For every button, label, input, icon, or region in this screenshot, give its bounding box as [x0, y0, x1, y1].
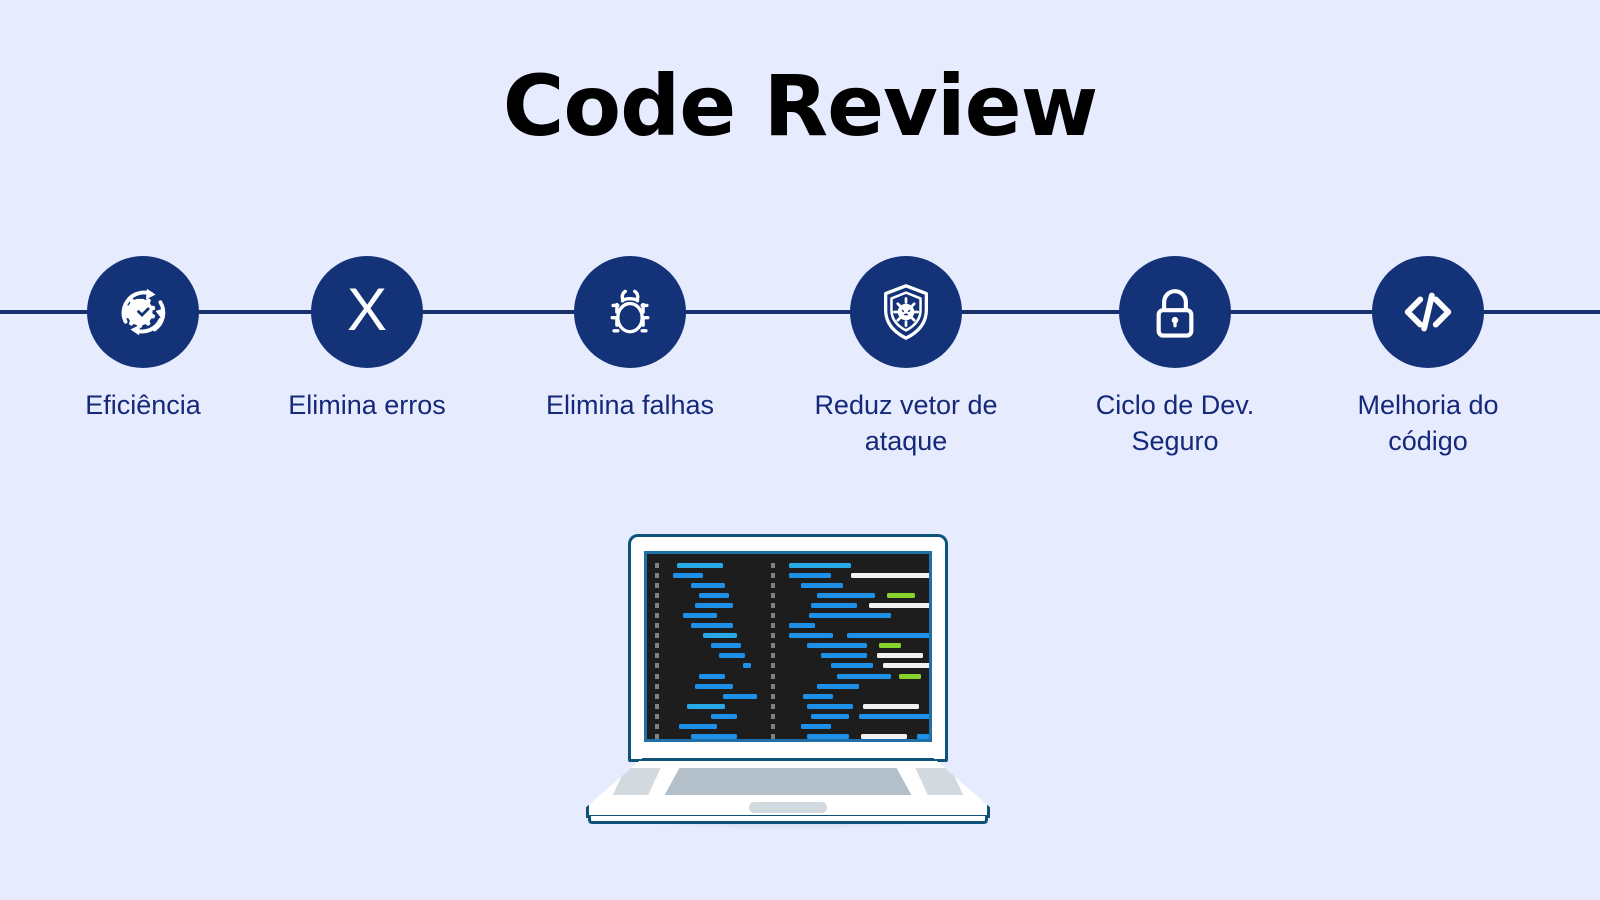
bug-icon [600, 282, 660, 342]
code-line [771, 590, 929, 600]
code-token [879, 643, 901, 648]
code-token [917, 734, 932, 739]
code-token [789, 623, 815, 628]
code-token [807, 643, 867, 648]
code-token [789, 573, 831, 578]
gutter-mark [655, 674, 659, 679]
gutter-mark [771, 684, 775, 689]
code-token [863, 704, 919, 709]
code-line [655, 590, 765, 600]
timeline: Eficiência X Elimina erros [0, 0, 1600, 500]
code-token [821, 653, 867, 658]
laptop-foot [588, 816, 988, 824]
gutter-mark [655, 704, 659, 709]
code-token [687, 704, 725, 709]
gear-check-cycle-icon [112, 281, 174, 343]
laptop-bezel [644, 551, 932, 742]
code-line [655, 732, 765, 742]
code-line [655, 651, 765, 661]
node-label: Ciclo de Dev. Seguro [1080, 388, 1270, 459]
timeline-node-melhoria-do-codigo[interactable]: Melhoria do código [1333, 256, 1523, 459]
letter-x-icon: X [347, 280, 387, 340]
gutter-mark [655, 563, 659, 568]
gutter-mark [771, 724, 775, 729]
code-line [771, 580, 929, 590]
gutter-mark [771, 613, 775, 618]
code-line [771, 701, 929, 711]
gutter-mark [655, 734, 659, 739]
code-token [789, 563, 851, 568]
gutter-mark [771, 734, 775, 739]
code-token [691, 734, 737, 739]
timeline-node-eficiencia[interactable]: Eficiência [48, 256, 238, 424]
laptop-lid [628, 534, 948, 762]
code-token [801, 583, 843, 588]
code-token [851, 573, 932, 578]
code-token [861, 734, 907, 739]
node-icon-circle[interactable] [1119, 256, 1231, 368]
code-line [655, 600, 765, 610]
code-line [771, 641, 929, 651]
code-line [771, 631, 929, 641]
code-line [655, 560, 765, 570]
gutter-mark [655, 694, 659, 699]
code-token [691, 623, 733, 628]
code-token [929, 704, 932, 709]
gutter-mark [655, 593, 659, 598]
code-line [655, 681, 765, 691]
code-line [771, 671, 929, 681]
node-icon-circle[interactable]: X [311, 256, 423, 368]
code-token [811, 603, 857, 608]
code-token [679, 724, 717, 729]
code-token [801, 724, 831, 729]
code-token [811, 714, 849, 719]
code-line [655, 661, 765, 671]
gutter-mark [655, 613, 659, 618]
gutter-mark [771, 623, 775, 628]
code-token [807, 704, 853, 709]
gutter-mark [771, 643, 775, 648]
code-editor-right-pane [765, 554, 929, 739]
code-line [771, 681, 929, 691]
node-label: Elimina erros [272, 388, 462, 424]
code-token [695, 684, 733, 689]
gutter-mark [655, 724, 659, 729]
code-token [847, 633, 932, 638]
timeline-node-reduz-vetor-de-ataque[interactable]: Reduz vetor de ataque [811, 256, 1001, 459]
code-token [887, 593, 915, 598]
code-token [869, 603, 932, 608]
gutter-mark [771, 653, 775, 658]
gutter-mark [655, 573, 659, 578]
gutter-mark [655, 643, 659, 648]
code-token [837, 674, 891, 679]
code-token [877, 653, 923, 658]
code-line [771, 722, 929, 732]
code-line [771, 610, 929, 620]
padlock-icon [1146, 283, 1204, 341]
code-line [771, 600, 929, 610]
shield-virus-icon [875, 281, 937, 343]
timeline-node-elimina-falhas[interactable]: Elimina falhas [535, 256, 725, 424]
code-line [771, 661, 929, 671]
keyboard-side-left [613, 768, 661, 795]
code-token [899, 674, 921, 679]
code-line [655, 691, 765, 701]
gutter-mark [771, 593, 775, 598]
gutter-mark [771, 714, 775, 719]
node-icon-circle[interactable] [574, 256, 686, 368]
node-icon-circle[interactable] [1372, 256, 1484, 368]
code-line [655, 671, 765, 681]
code-line [655, 570, 765, 580]
code-line [771, 691, 929, 701]
gutter-mark [655, 633, 659, 638]
code-token [677, 563, 723, 568]
laptop-base [586, 758, 990, 818]
code-token [817, 684, 859, 689]
code-token [691, 583, 725, 588]
code-line [655, 722, 765, 732]
gutter-mark [655, 684, 659, 689]
gutter-mark [771, 674, 775, 679]
code-line [771, 732, 929, 742]
node-icon-circle[interactable] [850, 256, 962, 368]
code-token [703, 633, 737, 638]
keyboard-side-right [915, 768, 963, 795]
node-label: Elimina falhas [535, 388, 725, 424]
code-line [771, 560, 929, 570]
code-token [803, 694, 833, 699]
code-line [655, 641, 765, 651]
code-line [655, 711, 765, 721]
code-token [817, 593, 875, 598]
gutter-mark [655, 603, 659, 608]
gutter-mark [655, 663, 659, 668]
code-line [655, 631, 765, 641]
code-line [771, 651, 929, 661]
code-token [695, 603, 733, 608]
keyboard-deck [665, 768, 912, 795]
gutter-mark [771, 663, 775, 668]
laptop-screen [647, 554, 929, 739]
node-label: Eficiência [48, 388, 238, 424]
code-token [807, 734, 849, 739]
code-line [771, 621, 929, 631]
code-editor-left-pane [647, 554, 765, 739]
node-label: Melhoria do código [1333, 388, 1523, 459]
code-token [789, 633, 833, 638]
gutter-mark [771, 573, 775, 578]
code-line [771, 711, 929, 721]
laptop-base-body [586, 758, 990, 818]
timeline-node-elimina-erros[interactable]: X Elimina erros [272, 256, 462, 424]
gutter-mark [655, 714, 659, 719]
code-token [673, 573, 703, 578]
code-token [859, 714, 932, 719]
trackpad [749, 802, 827, 813]
code-token [711, 714, 737, 719]
code-token [699, 674, 725, 679]
code-line [771, 570, 929, 580]
laptop-illustration [560, 518, 1016, 848]
gutter-mark [771, 563, 775, 568]
code-line [655, 610, 765, 620]
gutter-mark [655, 623, 659, 628]
code-line [655, 621, 765, 631]
timeline-node-ciclo-de-dev-seguro[interactable]: Ciclo de Dev. Seguro [1080, 256, 1270, 459]
gutter-mark [771, 704, 775, 709]
node-label: Reduz vetor de ataque [811, 388, 1001, 459]
code-token [711, 643, 741, 648]
code-token [699, 593, 729, 598]
code-token [883, 663, 932, 668]
code-token [683, 613, 717, 618]
code-token [931, 674, 932, 679]
code-brackets-icon [1397, 281, 1459, 343]
code-token [831, 663, 873, 668]
gutter-mark [655, 583, 659, 588]
gutter-mark [771, 633, 775, 638]
code-token [743, 663, 751, 668]
code-token [723, 694, 757, 699]
code-line [655, 701, 765, 711]
code-line [655, 580, 765, 590]
gutter-mark [771, 603, 775, 608]
node-icon-circle[interactable] [87, 256, 199, 368]
gutter-mark [655, 653, 659, 658]
gutter-mark [771, 694, 775, 699]
code-token [719, 653, 745, 658]
code-token [809, 613, 891, 618]
gutter-mark [771, 583, 775, 588]
